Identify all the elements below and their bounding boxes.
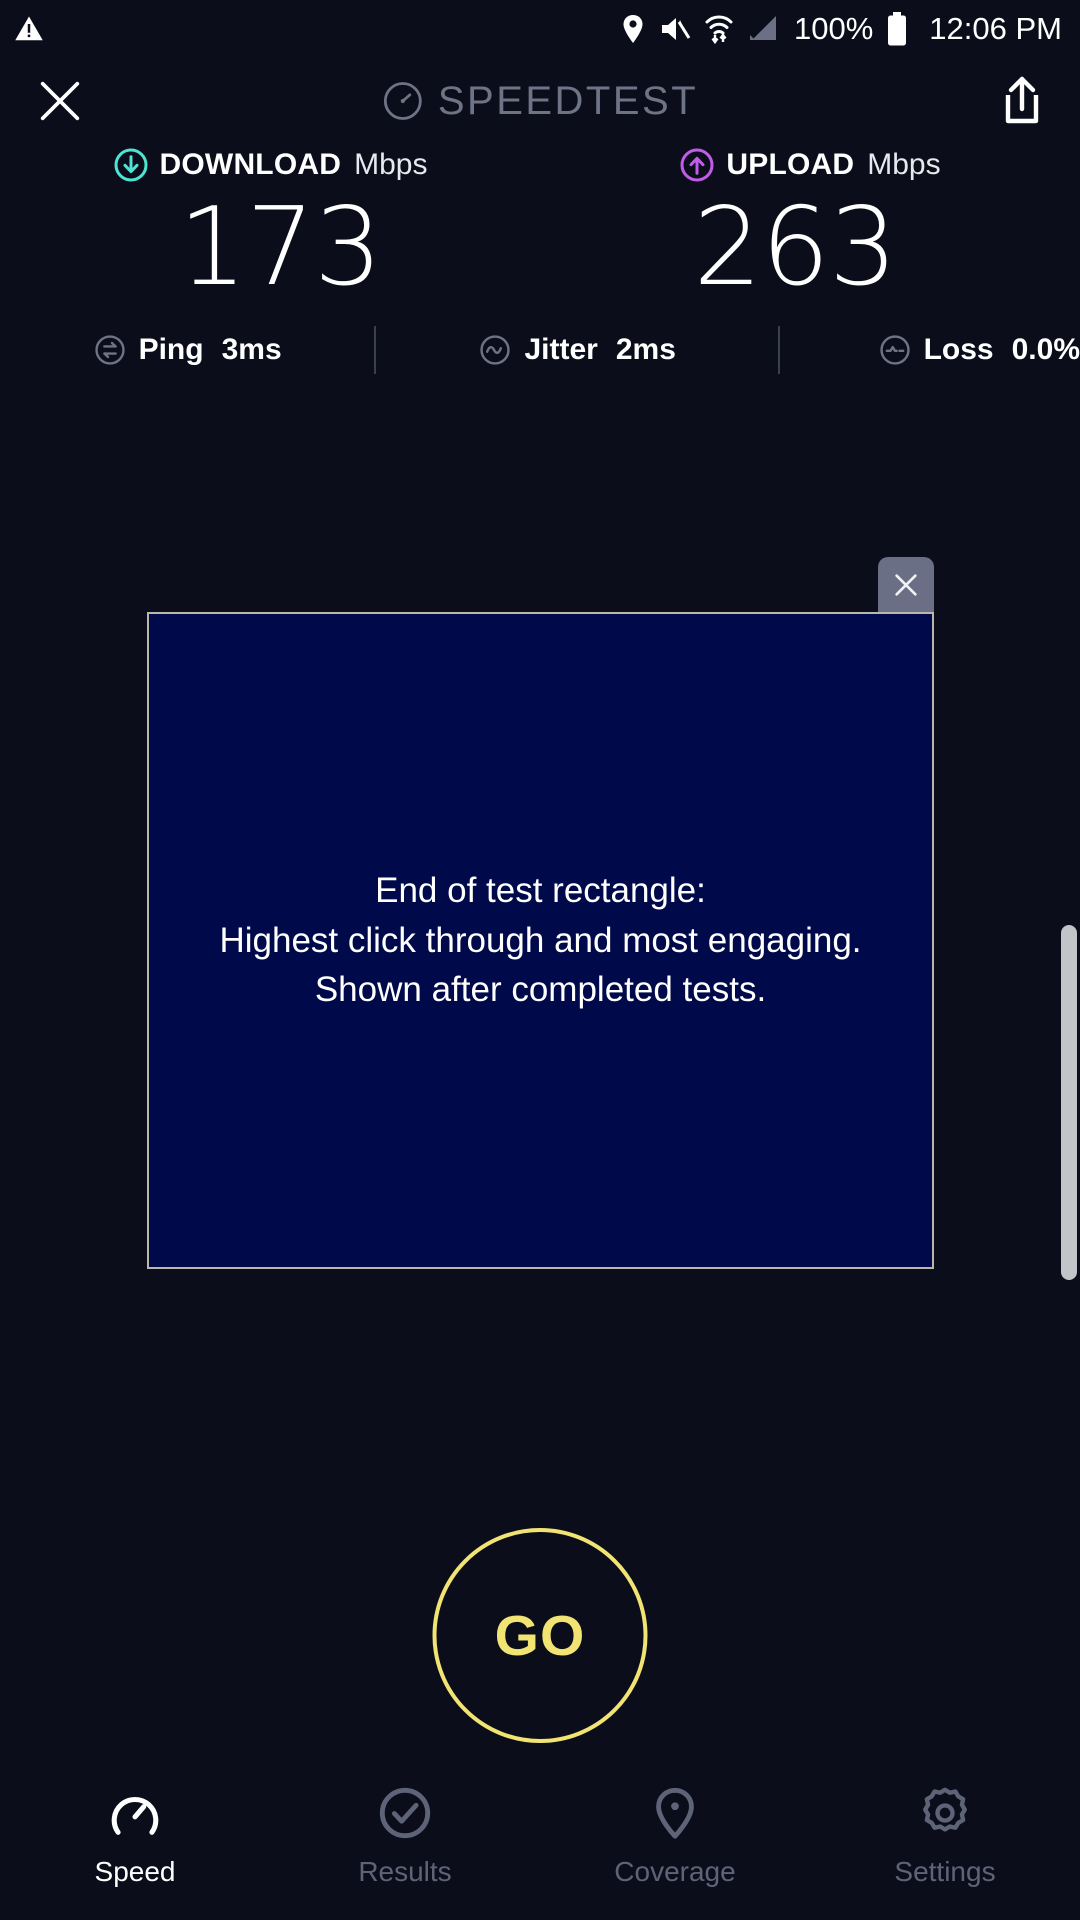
check-circle-icon xyxy=(376,1784,434,1842)
close-icon xyxy=(890,569,922,601)
nav-label-settings: Settings xyxy=(894,1856,995,1888)
submetrics-row: Ping 3ms Jitter 2ms xyxy=(0,326,1080,374)
ad-text: End of test rectangle: Highest click thr… xyxy=(219,866,861,1015)
nav-label-coverage: Coverage xyxy=(614,1856,735,1888)
loss-metric: Loss 0.0% xyxy=(878,333,1080,367)
close-icon[interactable] xyxy=(34,75,86,127)
clock-label: 12:06 PM xyxy=(929,11,1062,47)
advertisement-banner[interactable]: End of test rectangle: Highest click thr… xyxy=(147,612,934,1269)
nav-item-results[interactable]: Results xyxy=(270,1784,540,1888)
download-label: DOWNLOAD xyxy=(160,148,342,182)
status-bar-right: 100% 12:06 PM xyxy=(620,11,1062,47)
app-header: SPEEDTEST xyxy=(0,58,1080,144)
status-bar-left xyxy=(14,14,44,44)
jitter-icon xyxy=(478,333,512,367)
ad-line-1: End of test rectangle: xyxy=(219,866,861,916)
upload-value: 263 xyxy=(540,194,1080,302)
ping-icon xyxy=(93,333,127,367)
upload-metric: UPLOAD Mbps 263 xyxy=(540,142,1080,302)
ad-line-2: Highest click through and most engaging. xyxy=(219,916,861,966)
status-bar: 100% 12:06 PM xyxy=(0,0,1080,58)
submetric-divider xyxy=(778,326,780,374)
download-metric: DOWNLOAD Mbps 173 xyxy=(0,142,540,302)
go-button[interactable]: GO xyxy=(433,1528,648,1743)
share-icon[interactable] xyxy=(998,75,1046,127)
loss-value: 0.0% xyxy=(1012,333,1080,367)
jitter-label: Jitter xyxy=(524,333,597,367)
ad-close-button[interactable] xyxy=(878,557,934,613)
download-unit: Mbps xyxy=(354,148,427,182)
loss-icon xyxy=(878,333,912,367)
nav-item-speed[interactable]: Speed xyxy=(0,1784,270,1888)
loss-label: Loss xyxy=(924,333,994,367)
upload-header: UPLOAD Mbps xyxy=(540,142,1080,188)
nav-item-settings[interactable]: Settings xyxy=(810,1784,1080,1888)
map-pin-icon xyxy=(646,1784,704,1842)
bottom-navigation: Speed Results Coverage Settings xyxy=(0,1770,1080,1920)
speedometer-icon xyxy=(382,80,424,122)
nav-label-speed: Speed xyxy=(95,1856,176,1888)
brand-title: SPEEDTEST xyxy=(438,79,698,124)
location-pin-icon xyxy=(620,14,646,44)
ping-label: Ping xyxy=(139,333,204,367)
jitter-metric: Jitter 2ms xyxy=(478,333,675,367)
brand: SPEEDTEST xyxy=(382,79,698,124)
ad-line-3: Shown after completed tests. xyxy=(219,965,861,1015)
warning-triangle-icon xyxy=(14,14,44,44)
jitter-value: 2ms xyxy=(616,333,676,367)
nav-item-coverage[interactable]: Coverage xyxy=(540,1784,810,1888)
speedometer-icon xyxy=(106,1784,164,1842)
arrow-down-circle-icon xyxy=(113,147,149,183)
download-value: 173 xyxy=(0,194,540,302)
arrow-up-circle-icon xyxy=(679,147,715,183)
download-header: DOWNLOAD Mbps xyxy=(0,142,540,188)
battery-full-icon xyxy=(886,12,908,46)
scrollbar-thumb[interactable] xyxy=(1061,925,1077,1280)
upload-label: UPLOAD xyxy=(726,148,854,182)
cell-signal-icon xyxy=(747,14,779,44)
wifi-transfer-icon xyxy=(704,13,734,45)
battery-percent-label: 100% xyxy=(794,11,873,47)
go-button-label: GO xyxy=(495,1603,586,1669)
ping-metric: Ping 3ms xyxy=(93,333,282,367)
volume-muted-icon xyxy=(659,14,691,44)
gear-icon xyxy=(916,1784,974,1842)
speed-metrics-row: DOWNLOAD Mbps 173 UPLOAD Mbps 263 xyxy=(0,142,1080,302)
upload-unit: Mbps xyxy=(867,148,940,182)
ping-value: 3ms xyxy=(222,333,282,367)
results-panel: DOWNLOAD Mbps 173 UPLOAD Mbps 263 xyxy=(0,142,1080,374)
submetric-divider xyxy=(374,326,376,374)
nav-label-results: Results xyxy=(358,1856,451,1888)
